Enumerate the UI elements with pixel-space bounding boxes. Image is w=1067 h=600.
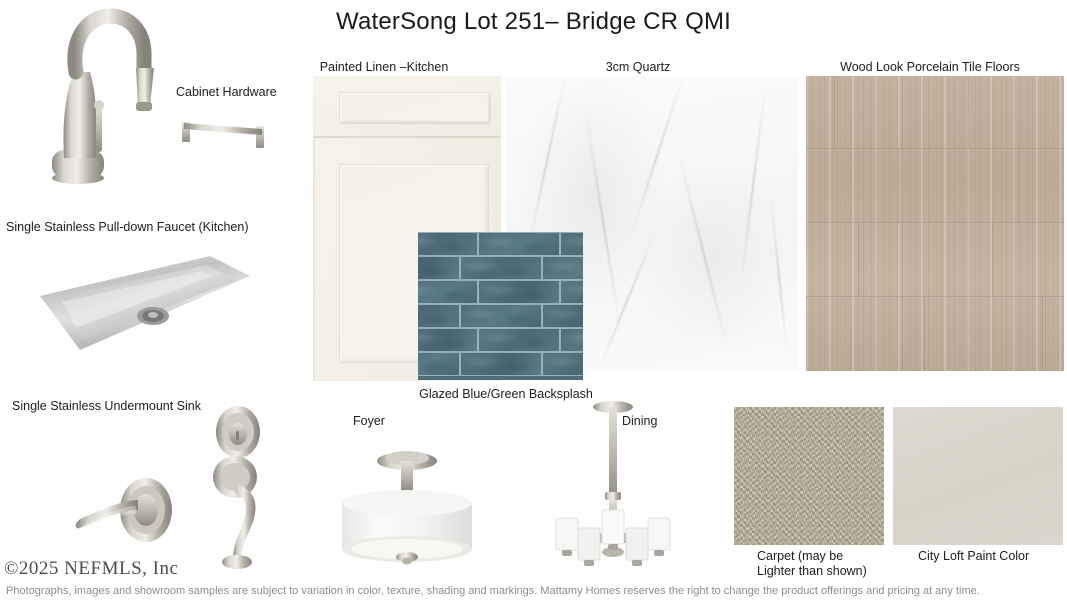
quartz-vein (584, 107, 621, 334)
swatch-wood-look-tile (806, 76, 1064, 371)
plank-edge (834, 76, 836, 148)
tile (560, 232, 583, 256)
swatch-carpet (734, 407, 884, 545)
cabinet-drawer-inset-panel (339, 92, 491, 124)
plank-edge (992, 222, 994, 296)
quartz-vein (630, 76, 684, 237)
quartz-vein (770, 196, 788, 355)
tile (560, 328, 583, 352)
tile (478, 232, 560, 256)
plank-edge (924, 296, 926, 371)
label-faucet: Single Stainless Pull-down Faucet (Kitch… (6, 220, 248, 235)
plank-seam (806, 296, 1064, 298)
undermount-sink-icon (26, 250, 256, 360)
five-arm-chandelier-icon (548, 400, 678, 572)
swatch-city-loft-paint (893, 407, 1063, 545)
tile (478, 280, 560, 304)
quartz-vein (677, 149, 729, 353)
tile (542, 256, 583, 280)
tile (418, 328, 478, 352)
label-sink: Single Stainless Undermount Sink (12, 399, 201, 414)
pull-down-faucet-icon (26, 10, 176, 190)
deadbolt-icon (212, 405, 264, 460)
tile (478, 328, 560, 352)
label-flooring: Wood Look Porcelain Tile Floors (840, 60, 1020, 75)
quartz-vein (740, 87, 766, 286)
swatch-backsplash-tile (418, 232, 583, 380)
label-paint: City Loft Paint Color (918, 549, 1029, 564)
tile (418, 232, 478, 256)
plank-edge (1018, 148, 1020, 222)
cabinet-edge-shadow (313, 140, 316, 381)
tile (460, 256, 542, 280)
plank-edge (858, 222, 860, 296)
plank-edge (968, 76, 970, 148)
tile (418, 304, 460, 328)
cabinet-drawer-front (313, 76, 501, 138)
plank-seam (806, 222, 1064, 224)
plank-edge (898, 148, 900, 222)
tile (418, 256, 460, 280)
mls-watermark: ©2025 NEFMLS, Inc (4, 558, 178, 580)
label-carpet: Carpet (may be Lighter than shown) (757, 549, 887, 579)
quartz-vein (526, 76, 567, 254)
tile (460, 352, 542, 376)
label-carpet-line2: Lighter than shown) (757, 564, 867, 578)
plank-seam (806, 148, 1064, 150)
label-cabinet-hardware: Cabinet Hardware (176, 85, 277, 100)
door-handleset-icon (205, 455, 273, 570)
tile (560, 280, 583, 304)
plank-edge (1042, 296, 1044, 371)
tile (542, 352, 583, 376)
semi-flush-drum-light-icon (320, 445, 495, 570)
tile (542, 304, 583, 328)
label-foyer: Foyer (353, 414, 385, 429)
disclaimer-text: Photographs, images and showroom samples… (6, 585, 1067, 597)
tile (418, 352, 460, 376)
label-countertop: 3cm Quartz (606, 60, 671, 75)
selections-board: WaterSong Lot 251– Bridge CR QMI Painted… (0, 0, 1067, 600)
label-cabinet-finish: Painted Linen –Kitchen (320, 60, 449, 75)
tile (418, 280, 478, 304)
tile (460, 304, 542, 328)
door-lever-handle-icon (68, 470, 198, 560)
label-carpet-line1: Carpet (may be (757, 549, 843, 563)
cabinet-pull-bar-icon (178, 112, 270, 152)
